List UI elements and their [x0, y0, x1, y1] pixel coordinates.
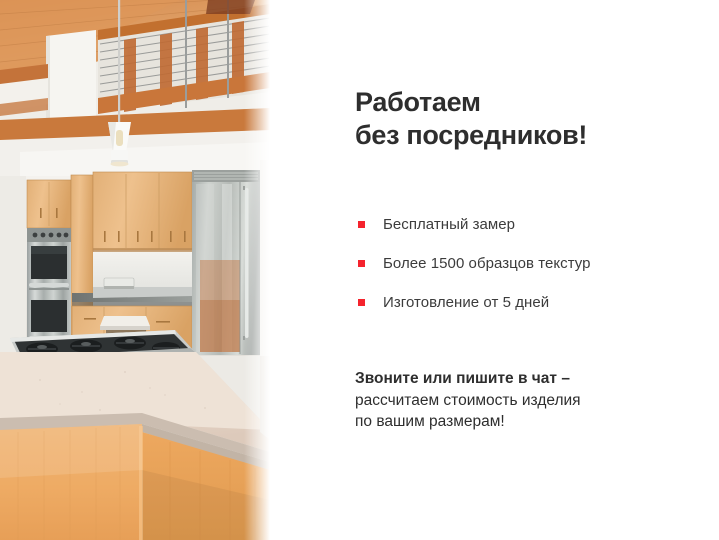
list-item: Более 1500 образцов текстур — [355, 254, 705, 273]
list-item-label: Более 1500 образцов текстур — [383, 255, 591, 272]
kitchen-interior-photo — [0, 0, 270, 540]
cta-headline: Звоните или пишите в чат – — [355, 368, 695, 390]
red-square-bullet-icon — [358, 299, 365, 306]
red-square-bullet-icon — [358, 221, 365, 228]
features-list: Бесплатный замер Более 1500 образцов тек… — [355, 215, 705, 312]
cta-body: рассчитаем стоимость изделия по вашим ра… — [355, 390, 695, 433]
content-panel: Работаем без посредников! Бесплатный зам… — [270, 0, 719, 540]
avito-watermark — [621, 502, 707, 528]
list-item-label: Изготовление от 5 дней — [383, 294, 549, 311]
avito-circles-logo-icon — [621, 502, 707, 528]
list-item: Изготовление от 5 дней — [355, 293, 705, 312]
advertisement-banner: Работаем без посредников! Бесплатный зам… — [0, 0, 719, 540]
call-to-action-text: Звоните или пишите в чат – рассчитаем ст… — [355, 368, 695, 433]
list-item: Бесплатный замер — [355, 215, 705, 234]
red-square-bullet-icon — [358, 260, 365, 267]
list-item-label: Бесплатный замер — [383, 216, 515, 233]
page-title: Работаем без посредников! — [355, 86, 695, 152]
